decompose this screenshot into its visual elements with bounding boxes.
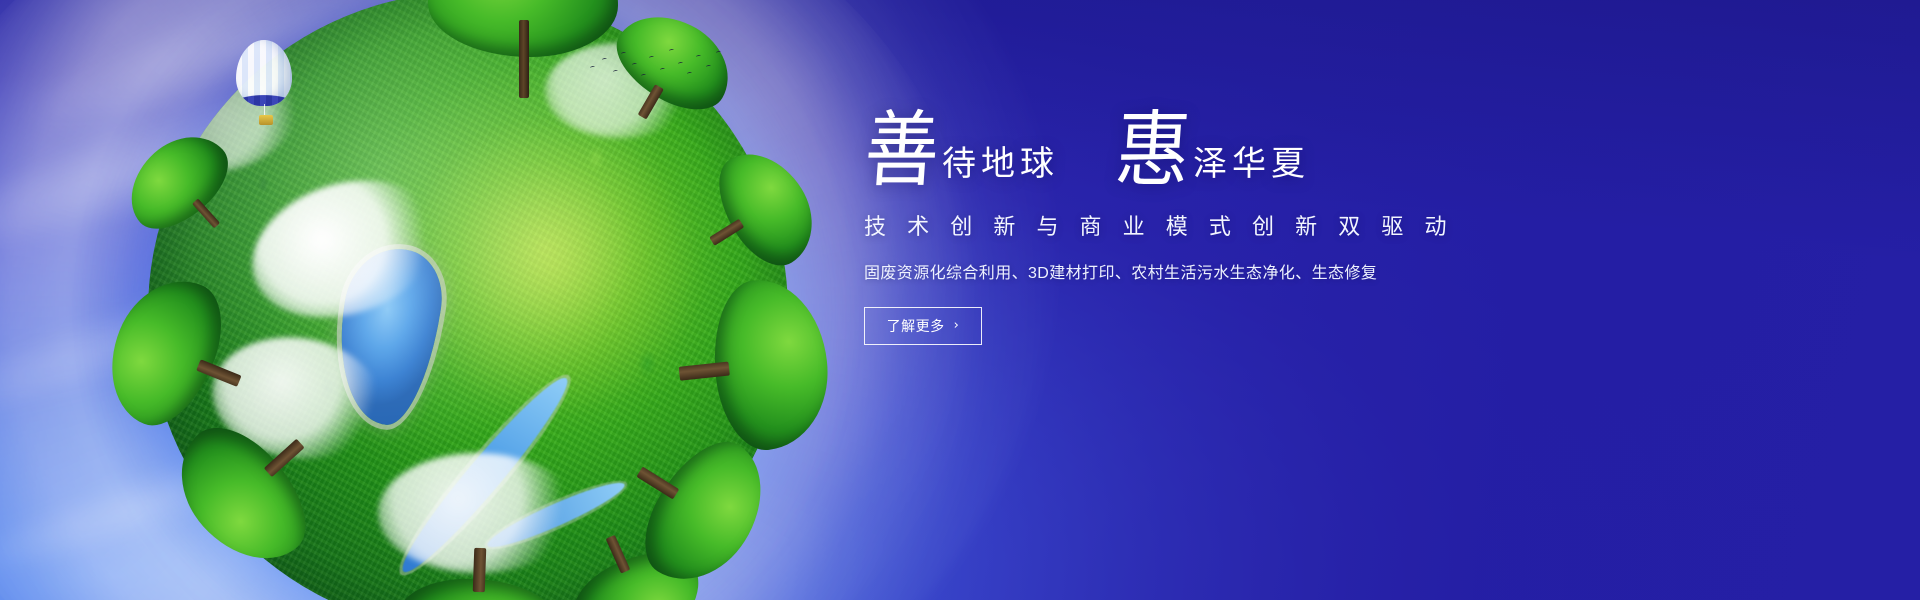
headline-lead-char-2: 惠 [1113,111,1193,193]
hot-air-balloon-icon [236,40,292,126]
headline-rest-2: 泽华夏 [1193,147,1310,193]
headline-lead-char-1: 善 [862,111,942,193]
headline-rest-1: 待地球 [942,147,1059,193]
subtitle: 技 术 创 新 与 商 业 模 式 创 新 双 驱 动 [864,209,1502,241]
learn-more-button[interactable]: 了解更多 › [864,307,982,345]
tree [396,545,560,600]
bird-flock-icon [586,44,726,90]
headline: 善 待地球 惠 泽华夏 [862,120,1502,193]
hero-content: 善 待地球 惠 泽华夏 技 术 创 新 与 商 业 模 式 创 新 双 驱 动 … [862,120,1502,345]
description: 固废资源化综合利用、3D建材打印、农村生活污水生态净化、生态修复 [864,259,1502,283]
headline-phrase-2: 惠 泽华夏 [1113,120,1310,193]
chevron-right-icon: › [954,319,960,332]
learn-more-label: 了解更多 [887,316,945,336]
hero-banner: 善 待地球 惠 泽华夏 技 术 创 新 与 商 业 模 式 创 新 双 驱 动 … [0,0,1920,600]
headline-phrase-1: 善 待地球 [862,120,1059,193]
